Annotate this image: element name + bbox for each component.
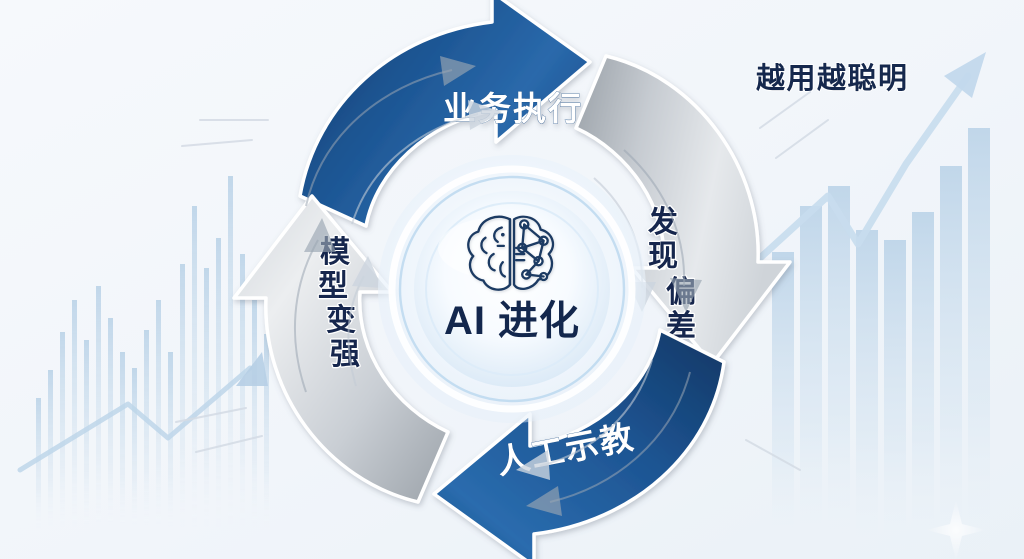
infographic-canvas: 越用越聪明 业务执行 发 现 偏 差 人工示教 bbox=[0, 0, 1024, 559]
svg-text:强: 强 bbox=[330, 338, 360, 371]
headline-text: 越用越聪明 bbox=[756, 62, 909, 95]
center-core[interactable]: AI 进化 bbox=[378, 155, 646, 423]
svg-text:现: 现 bbox=[648, 240, 678, 273]
ai-evolution-cycle-diagram: 越用越聪明 业务执行 发 现 偏 差 人工示教 bbox=[0, 0, 1024, 559]
center-title: AI 进化 bbox=[444, 299, 580, 343]
svg-text:型: 型 bbox=[318, 270, 348, 303]
cycle-label-top: 业务执行 bbox=[443, 90, 583, 127]
